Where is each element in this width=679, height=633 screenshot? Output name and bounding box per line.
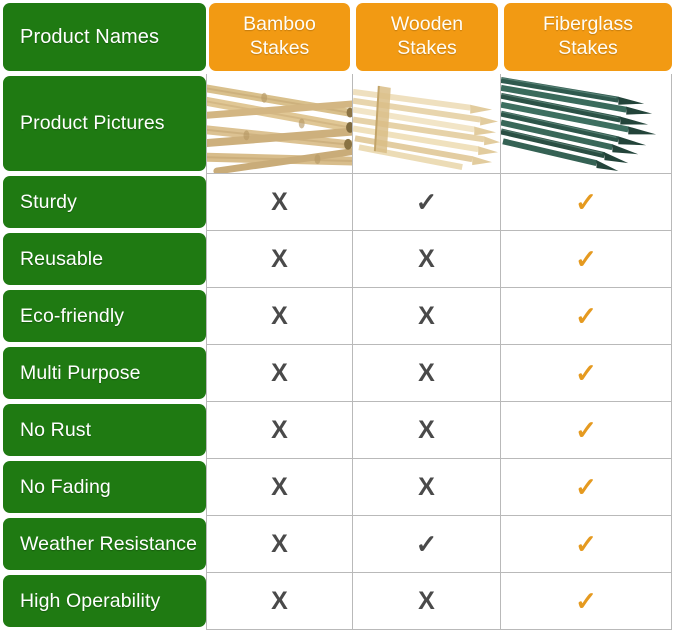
row-label-sturdy: Sturdy	[3, 176, 206, 228]
row-label-text: Reusable	[20, 248, 103, 271]
cell-multi-purpose-wooden: X	[353, 345, 501, 402]
cell-weather-resistance-fiberglass: ✓	[501, 516, 672, 573]
cell-eco-friendly-wooden: X	[353, 288, 501, 345]
cell-eco-friendly-fiberglass: ✓	[501, 288, 672, 345]
cross-icon: X	[271, 304, 288, 329]
cross-icon: X	[418, 589, 435, 614]
row-label-weather-resistance: Weather Resistance	[3, 518, 206, 570]
product-picture-bamboo-stakes	[206, 74, 353, 174]
cross-icon: X	[271, 589, 288, 614]
header-column-bamboo-line1: Bamboo	[243, 13, 316, 37]
cross-icon: X	[271, 361, 288, 386]
row-label-reusable: Reusable	[3, 233, 206, 285]
cell-sturdy-wooden: ✓	[353, 174, 501, 231]
cell-high-operability-wooden: X	[353, 573, 501, 630]
row-label-text: Eco-friendly	[20, 305, 124, 328]
cell-reusable-fiberglass: ✓	[501, 231, 672, 288]
wooden-stakes-image	[353, 74, 500, 173]
header-label-product-names: Product Names	[3, 3, 206, 71]
header-column-bamboo-stakes: Bamboo Stakes	[209, 3, 350, 71]
product-comparison-table: Product Names Bamboo Stakes Wooden Stake…	[0, 0, 679, 633]
check-icon: ✓	[575, 360, 597, 386]
row-label-eco-friendly: Eco-friendly	[3, 290, 206, 342]
cross-icon: X	[271, 532, 288, 557]
check-icon: ✓	[575, 588, 597, 614]
cross-icon: X	[271, 418, 288, 443]
cross-icon: X	[271, 475, 288, 500]
row-label-text: No Fading	[20, 476, 111, 499]
cross-icon: X	[271, 247, 288, 272]
check-icon: ✓	[575, 531, 597, 557]
cross-icon: X	[418, 247, 435, 272]
row-label-text: Sturdy	[20, 191, 77, 214]
cross-icon: X	[271, 190, 288, 215]
row-label-product-pictures: Product Pictures	[3, 76, 206, 171]
row-label-text: Weather Resistance	[20, 533, 197, 556]
cell-no-rust-wooden: X	[353, 402, 501, 459]
header-column-wooden-stakes: Wooden Stakes	[356, 3, 498, 71]
row-label-high-operability: High Operability	[3, 575, 206, 627]
header-label-text: Product Names	[20, 26, 159, 49]
row-label-text: Product Pictures	[20, 112, 165, 135]
row-label-text: No Rust	[20, 419, 91, 442]
check-icon: ✓	[575, 303, 597, 329]
cross-icon: X	[418, 418, 435, 443]
row-label-no-fading: No Fading	[3, 461, 206, 513]
cell-weather-resistance-bamboo: X	[206, 516, 353, 573]
cell-no-fading-fiberglass: ✓	[501, 459, 672, 516]
row-label-text: Multi Purpose	[20, 362, 141, 385]
check-icon: ✓	[416, 189, 438, 215]
cross-icon: X	[418, 361, 435, 386]
row-label-multi-purpose: Multi Purpose	[3, 347, 206, 399]
cell-sturdy-bamboo: X	[206, 174, 353, 231]
header-column-bamboo-line2: Stakes	[250, 37, 310, 61]
check-icon: ✓	[575, 246, 597, 272]
bamboo-stakes-image	[207, 74, 352, 173]
cell-multi-purpose-fiberglass: ✓	[501, 345, 672, 402]
product-picture-fiberglass-stakes	[501, 74, 672, 174]
cell-sturdy-fiberglass: ✓	[501, 174, 672, 231]
cell-weather-resistance-wooden: ✓	[353, 516, 501, 573]
cell-high-operability-bamboo: X	[206, 573, 353, 630]
header-column-fiberglass-line2: Stakes	[558, 37, 618, 61]
header-column-fiberglass-stakes: Fiberglass Stakes	[504, 3, 672, 71]
cell-reusable-bamboo: X	[206, 231, 353, 288]
cell-eco-friendly-bamboo: X	[206, 288, 353, 345]
row-label-no-rust: No Rust	[3, 404, 206, 456]
cell-no-rust-bamboo: X	[206, 402, 353, 459]
cell-multi-purpose-bamboo: X	[206, 345, 353, 402]
header-column-wooden-line2: Stakes	[397, 37, 457, 61]
row-label-text: High Operability	[20, 590, 160, 613]
cross-icon: X	[418, 475, 435, 500]
cell-reusable-wooden: X	[353, 231, 501, 288]
cross-icon: X	[418, 304, 435, 329]
cell-no-fading-wooden: X	[353, 459, 501, 516]
check-icon: ✓	[575, 189, 597, 215]
check-icon: ✓	[575, 417, 597, 443]
check-icon: ✓	[416, 531, 438, 557]
header-column-fiberglass-line1: Fiberglass	[543, 13, 633, 37]
cell-no-fading-bamboo: X	[206, 459, 353, 516]
fiberglass-stakes-image	[501, 74, 671, 173]
check-icon: ✓	[575, 474, 597, 500]
header-column-wooden-line1: Wooden	[391, 13, 463, 37]
cell-high-operability-fiberglass: ✓	[501, 573, 672, 630]
product-picture-wooden-stakes	[353, 74, 501, 174]
cell-no-rust-fiberglass: ✓	[501, 402, 672, 459]
